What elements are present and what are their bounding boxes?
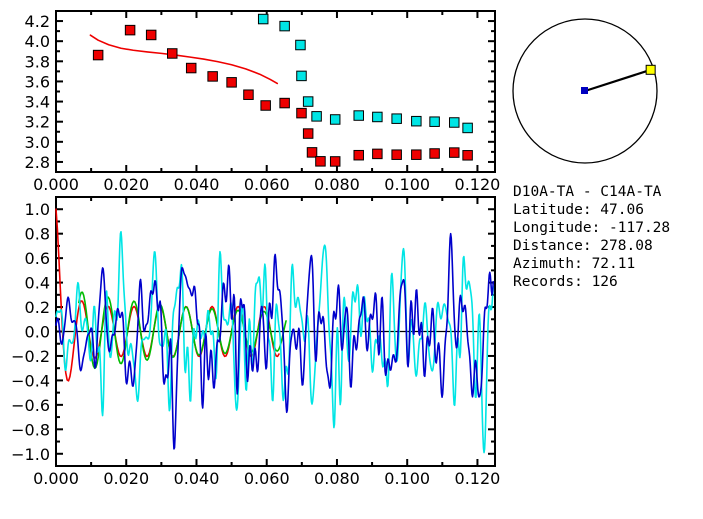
data-point-marker <box>316 157 326 167</box>
y-tick-label: 0.2 <box>25 298 50 317</box>
x-tick-label: 0.040 <box>174 175 220 194</box>
data-point-marker <box>125 25 135 35</box>
x-tick-label: 0.080 <box>314 469 360 488</box>
y-tick-label: −0.6 <box>11 396 50 415</box>
data-point-marker <box>430 117 440 127</box>
info-distance: Distance: 278.08 <box>513 238 653 254</box>
data-point-marker <box>412 116 422 126</box>
data-point-marker <box>392 114 402 124</box>
y-tick-label: −0.4 <box>11 371 50 390</box>
y-tick-label: 3.8 <box>25 52 50 71</box>
data-point-marker <box>312 112 322 122</box>
data-point-marker <box>450 118 460 128</box>
data-point-marker <box>280 21 290 31</box>
data-point-marker <box>297 71 307 81</box>
data-point-marker <box>412 150 422 160</box>
y-tick-label: 3.4 <box>25 93 50 112</box>
data-point-marker <box>373 112 383 122</box>
data-point-marker <box>168 49 178 59</box>
info-records: Records: 126 <box>513 274 618 290</box>
x-tick-label: 0.000 <box>33 469 79 488</box>
data-point-marker <box>307 148 317 158</box>
y-tick-label: −0.2 <box>11 347 50 366</box>
y-tick-label: 3.0 <box>25 133 50 152</box>
y-tick-label: 2.8 <box>25 153 50 172</box>
dispersion-plot: 2.83.03.23.43.63.84.04.20.0000.0200.0400… <box>25 11 501 194</box>
data-point-marker <box>244 90 254 100</box>
data-point-marker <box>373 149 383 159</box>
data-point-marker <box>280 98 290 108</box>
data-point-marker <box>297 108 307 118</box>
x-tick-label: 0.120 <box>455 175 501 194</box>
data-point-marker <box>430 149 440 159</box>
y-tick-label: 0.8 <box>25 225 50 244</box>
x-tick-label: 0.120 <box>455 469 501 488</box>
info-longitude: Longitude: -117.28 <box>513 220 670 236</box>
data-point-marker <box>463 151 473 161</box>
data-point-marker <box>450 148 460 158</box>
y-tick-label: 0.4 <box>25 274 50 293</box>
x-tick-label: 0.060 <box>244 469 290 488</box>
data-point-marker <box>463 123 473 132</box>
x-tick-label: 0.040 <box>174 469 220 488</box>
y-tick-label: 1.0 <box>25 200 50 219</box>
data-point-marker <box>261 101 271 111</box>
data-point-marker <box>392 150 402 160</box>
info-azimuth: Azimuth: 72.11 <box>513 256 635 272</box>
info-latitude: Latitude: 47.06 <box>513 202 644 218</box>
data-point-marker <box>303 97 313 107</box>
y-tick-label: 4.0 <box>25 32 50 51</box>
azimuth-compass <box>513 19 657 163</box>
spectra-plot-data <box>56 209 495 452</box>
data-point-marker <box>208 72 218 82</box>
x-tick-label: 0.020 <box>103 175 149 194</box>
dispersion-model-curve <box>90 35 277 83</box>
y-tick-label: −1.0 <box>11 445 50 464</box>
info-title: D10A-TA - C14A-TA <box>513 184 662 200</box>
compass-center-dot <box>581 87 588 94</box>
data-point-marker <box>93 50 103 60</box>
data-point-marker <box>330 115 340 125</box>
y-tick-label: 4.2 <box>25 12 50 31</box>
data-point-marker <box>330 157 340 167</box>
dispersion-plot-data <box>90 14 472 166</box>
y-tick-label: 3.6 <box>25 72 50 91</box>
x-tick-label: 0.100 <box>384 175 430 194</box>
dispersion-plot-frame <box>56 11 495 172</box>
compass-endpoint-marker <box>646 65 655 74</box>
data-point-marker <box>146 30 156 40</box>
data-point-marker <box>186 63 196 73</box>
y-tick-label: 0.6 <box>25 249 50 268</box>
data-point-marker <box>354 111 364 121</box>
station-info-panel: D10A-TA - C14A-TA Latitude: 47.06 Longit… <box>513 184 670 290</box>
data-point-marker <box>354 150 364 160</box>
crosscorrelation-spectra-plot: −1.0−0.8−0.6−0.4−0.20.00.20.40.60.81.00.… <box>11 197 500 488</box>
data-point-marker <box>296 40 306 50</box>
y-tick-label: −0.8 <box>11 420 50 439</box>
dispersion-frame-box <box>56 11 495 172</box>
figure-root: 2.83.03.23.43.63.84.04.20.0000.0200.0400… <box>0 0 703 519</box>
x-tick-label: 0.020 <box>103 469 149 488</box>
x-tick-label: 0.080 <box>314 175 360 194</box>
x-tick-label: 0.000 <box>33 175 79 194</box>
compass-ray <box>585 70 651 91</box>
seismic-figure: 2.83.03.23.43.63.84.04.20.0000.0200.0400… <box>0 0 703 519</box>
data-point-marker <box>303 129 313 139</box>
data-point-marker <box>258 14 268 23</box>
y-tick-label: 0.0 <box>25 323 50 342</box>
x-tick-label: 0.100 <box>384 469 430 488</box>
data-point-marker <box>227 78 237 88</box>
dispersion-plot-ticks <box>56 11 495 172</box>
y-tick-label: 3.2 <box>25 113 50 132</box>
x-tick-label: 0.060 <box>244 175 290 194</box>
